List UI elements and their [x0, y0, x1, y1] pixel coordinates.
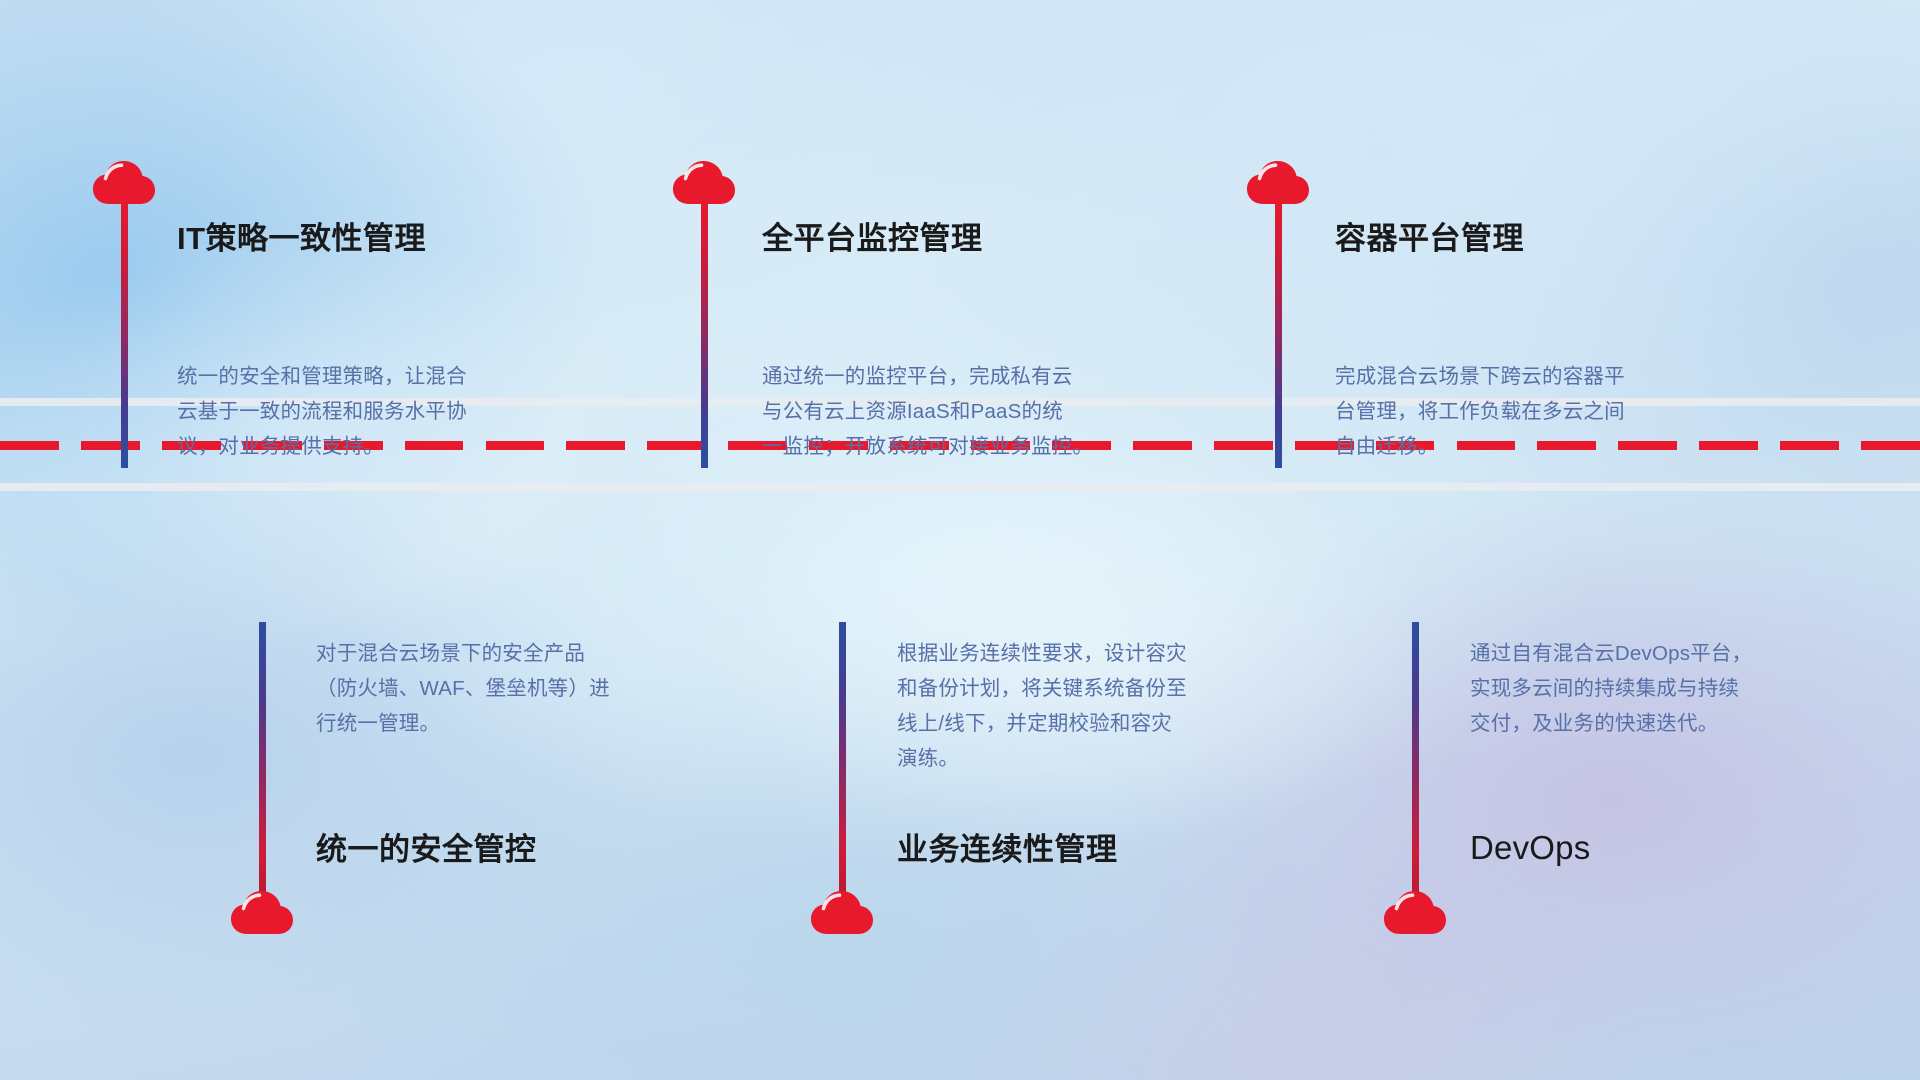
- divider-dash: [81, 441, 140, 450]
- cloud-icon: [1383, 890, 1447, 936]
- top-node-2-title: 全平台监控管理: [762, 223, 983, 254]
- bottom-node-2-title: 业务连续性管理: [897, 834, 1118, 865]
- bottom-node-1-title: 统一的安全管控: [316, 834, 537, 865]
- infographic-canvas: IT策略一致性管理 统一的安全和管理策略，让混合 云基于一致的流程和服务水平协 …: [0, 0, 1920, 1080]
- top-node-3-title: 容器平台管理: [1335, 223, 1524, 254]
- cloud-icon: [810, 890, 874, 936]
- divider-dash: [0, 441, 59, 450]
- top-node-2-description: 通过统一的监控平台，完成私有云 与公有云上资源IaaS和PaaS的统 一监控；开…: [762, 359, 1212, 464]
- bottom-node-1-description: 对于混合云场景下的安全产品 （防火墙、WAF、堡垒机等）进 行统一管理。: [316, 636, 746, 741]
- top-node-3-description: 完成混合云场景下跨云的容器平 台管理，将工作负载在多云之间 自由迁移。: [1335, 359, 1783, 464]
- node-stem: [259, 622, 266, 908]
- divider-dash: [1861, 441, 1920, 450]
- bottom-node-3-description: 通过自有混合云DevOps平台， 实现多云间的持续集成与持续 交付，及业务的快速…: [1470, 636, 1900, 741]
- cloud-icon: [230, 890, 294, 936]
- bottom-node-3-title: DevOps: [1470, 831, 1590, 864]
- node-stem: [839, 622, 846, 908]
- top-node-1-description: 统一的安全和管理策略，让混合 云基于一致的流程和服务水平协 议，对业务提供支持。: [177, 359, 609, 464]
- bottom-node-2-description: 根据业务连续性要求，设计容灾 和备份计划，将关键系统备份至 线上/线下，并定期校…: [897, 636, 1337, 776]
- top-node-1-title: IT策略一致性管理: [177, 223, 426, 254]
- node-stem: [1275, 196, 1282, 468]
- node-stem: [1412, 622, 1419, 908]
- divider-dash: [1780, 441, 1839, 450]
- node-stem: [121, 196, 128, 468]
- divider-dash: [1214, 441, 1273, 450]
- divider-dash: [647, 441, 706, 450]
- node-stem: [701, 196, 708, 468]
- divider-rule-bottom: [0, 483, 1920, 491]
